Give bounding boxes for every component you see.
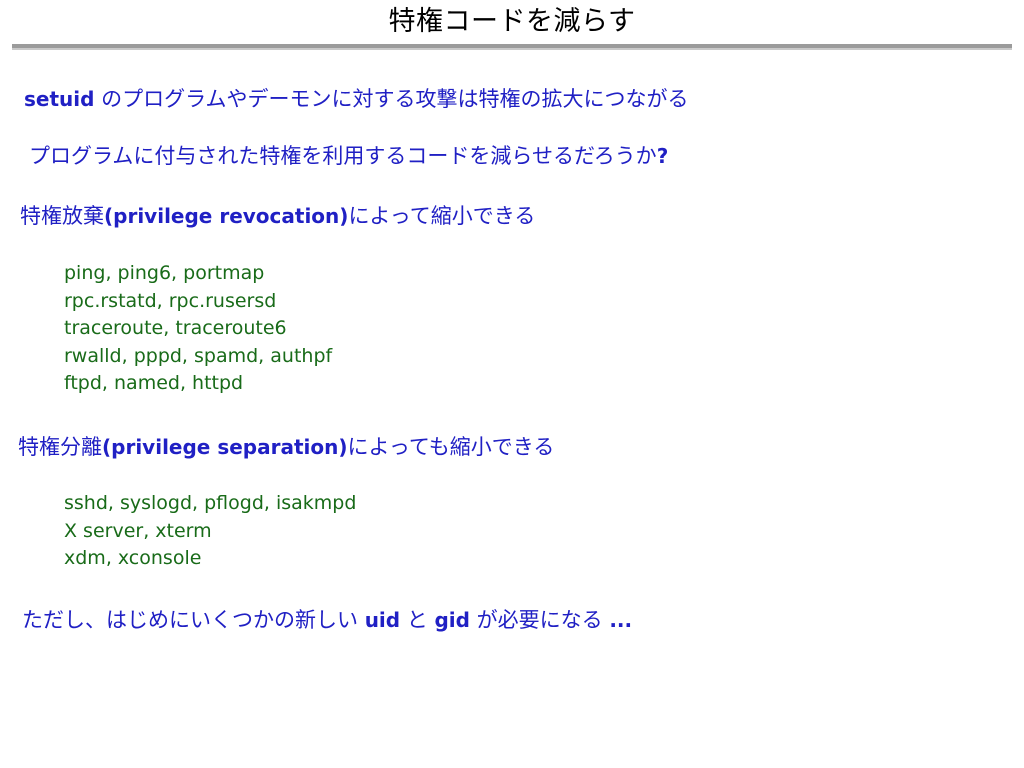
page-title: 特権コードを減らす [389,6,636,38]
question-mark: ? [657,144,669,168]
list-item: ping, ping6, portmap [64,260,332,288]
note-part3: が必要になる [470,608,609,632]
bullet-question: プログラムに付与された特権を利用するコードを減らせるだろうか? [29,143,668,169]
separation-latin: (privilege separation) [102,435,348,459]
list-item: ftpd, named, httpd [64,370,332,398]
revocation-program-list: ping, ping6, portmap rpc.rstatd, rpc.rus… [64,260,332,398]
bullet-uid-gid-note: ただし、はじめにいくつかの新しい uid と gid が必要になる ... [22,607,632,633]
list-item: rpc.rstatd, rpc.rusersd [64,288,332,316]
revocation-suffix: によって縮小できる [348,204,535,228]
uid-keyword: uid [365,608,400,632]
gid-keyword: gid [434,608,470,632]
separation-prefix: 特権分離 [18,435,102,459]
separation-program-list: sshd, syslogd, pflogd, isakmpd X server,… [64,490,356,573]
bullet-privilege-revocation: 特権放棄(privilege revocation)によって縮小できる [20,203,535,229]
list-item: traceroute, traceroute6 [64,315,332,343]
list-item: X server, xterm [64,518,356,546]
slide-canvas: 特権コードを減らす setuid のプログラムやデーモンに対する攻撃は特権の拡大… [0,0,1024,768]
title-divider [12,44,1012,50]
slide-title-area: 特権コードを減らす [0,6,1024,38]
note-part1: ただし、はじめにいくつかの新しい [22,608,365,632]
bullet-setuid: setuid のプログラムやデーモンに対する攻撃は特権の拡大につながる [24,86,689,112]
setuid-sentence: のプログラムやデーモンに対する攻撃は特権の拡大につながる [94,87,688,111]
list-item: sshd, syslogd, pflogd, isakmpd [64,490,356,518]
setuid-keyword: setuid [24,87,94,111]
bullet-privilege-separation: 特権分離(privilege separation)によっても縮小できる [18,434,554,460]
list-item: rwalld, pppd, spamd, authpf [64,343,332,371]
note-ellipsis: ... [609,608,632,632]
revocation-latin: (privilege revocation) [104,204,348,228]
revocation-prefix: 特権放棄 [20,204,104,228]
question-sentence: プログラムに付与された特権を利用するコードを減らせるだろうか [29,144,657,168]
list-item: xdm, xconsole [64,545,356,573]
note-part2: と [400,608,434,632]
separation-suffix: によっても縮小できる [348,435,555,459]
